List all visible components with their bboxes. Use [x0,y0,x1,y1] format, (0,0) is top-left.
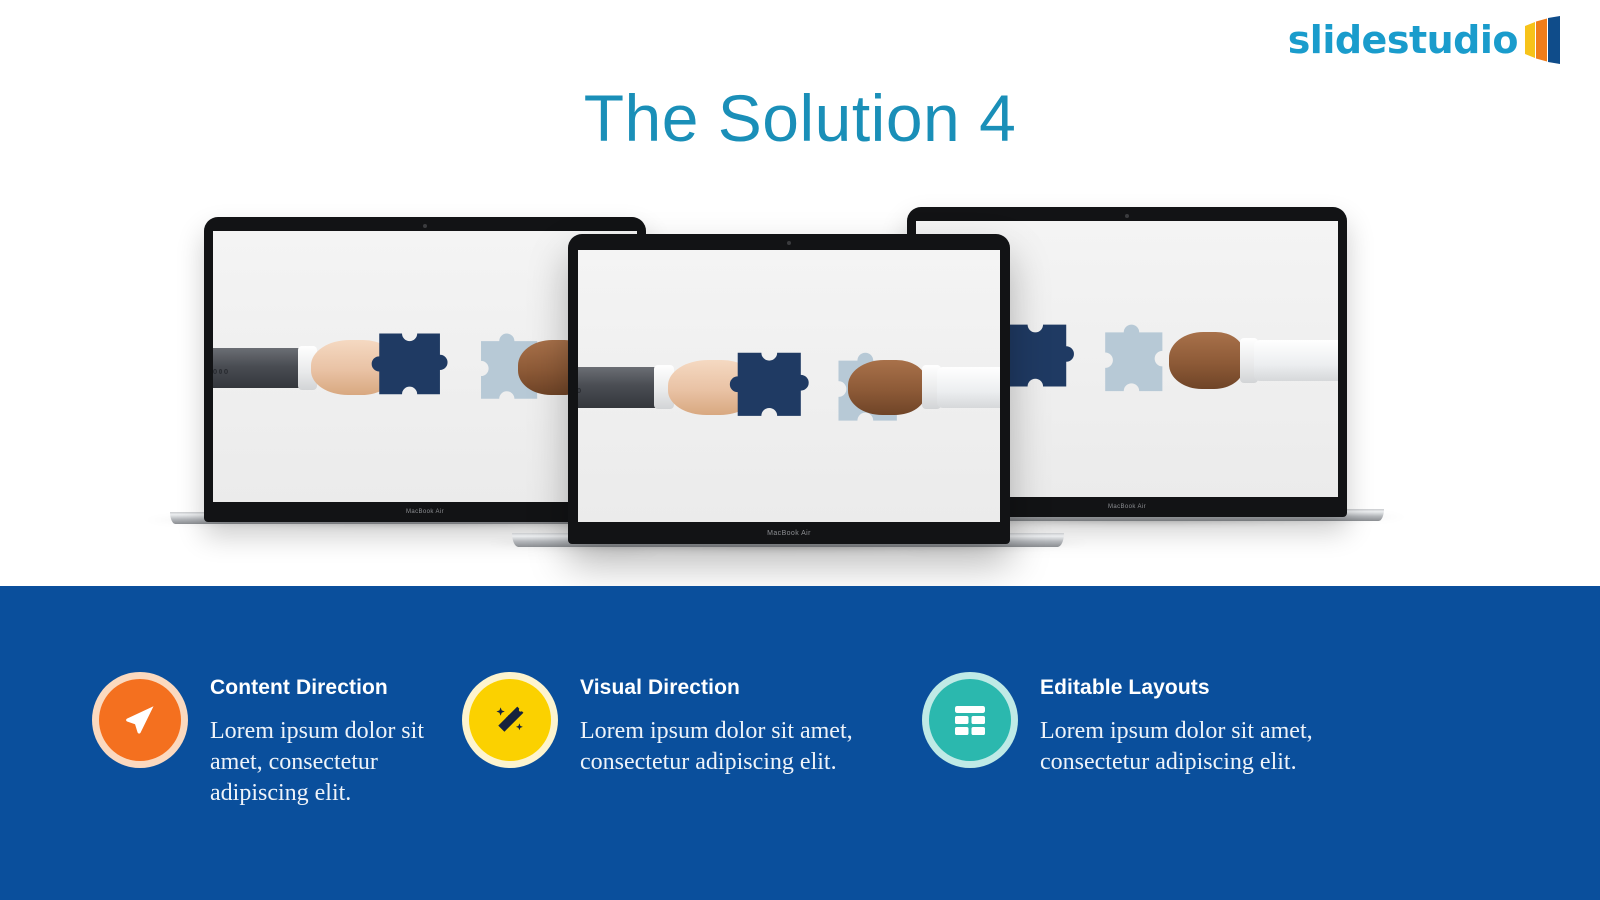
paper-plane-icon[interactable] [92,672,188,768]
webcam-icon [1125,214,1129,218]
feature-title: Visual Direction [580,676,860,700]
brand-name: slidestudio [1288,21,1518,59]
feature-text-block: Visual Direction Lorem ipsum dolor sit a… [580,672,860,778]
feature-body: Lorem ipsum dolor sit amet, consectetur … [210,716,460,810]
table-layout-icon[interactable] [922,672,1018,768]
puzzle-piece-dark [726,348,819,427]
screen-artwork-center [578,250,1000,522]
feature-title: Editable Layouts [1040,676,1320,700]
laptop-mockup-center: MacBook Air [508,234,1068,544]
features-panel: Content Direction Lorem ipsum dolor sit … [0,586,1600,900]
slide-canvas: slidestudio The Solution 4 [0,0,1600,900]
feature-item-visual-direction[interactable]: Visual Direction Lorem ipsum dolor sit a… [462,672,922,810]
feature-item-editable-layouts[interactable]: Editable Layouts Lorem ipsum dolor sit a… [922,672,1392,810]
feature-body: Lorem ipsum dolor sit amet, consectetur … [580,716,860,778]
magic-wand-icon[interactable] [462,672,558,768]
page-title: The Solution 4 [0,82,1600,155]
device-mockup-stage: MacBook Air [0,195,1600,575]
device-label-center: MacBook Air [568,522,1010,544]
brand-logo[interactable]: slidestudio [1288,16,1562,64]
puzzle-piece-dark [366,329,459,405]
webcam-icon [787,241,791,245]
feature-title: Content Direction [210,676,460,700]
feature-text-block: Content Direction Lorem ipsum dolor sit … [210,672,460,810]
webcam-icon [423,224,427,228]
feature-text-block: Editable Layouts Lorem ipsum dolor sit a… [1040,672,1320,778]
features-list: Content Direction Lorem ipsum dolor sit … [0,672,1600,810]
feature-body: Lorem ipsum dolor sit amet, consectetur … [1040,716,1320,778]
book-pages-icon [1524,16,1562,64]
feature-item-content-direction[interactable]: Content Direction Lorem ipsum dolor sit … [0,672,460,810]
